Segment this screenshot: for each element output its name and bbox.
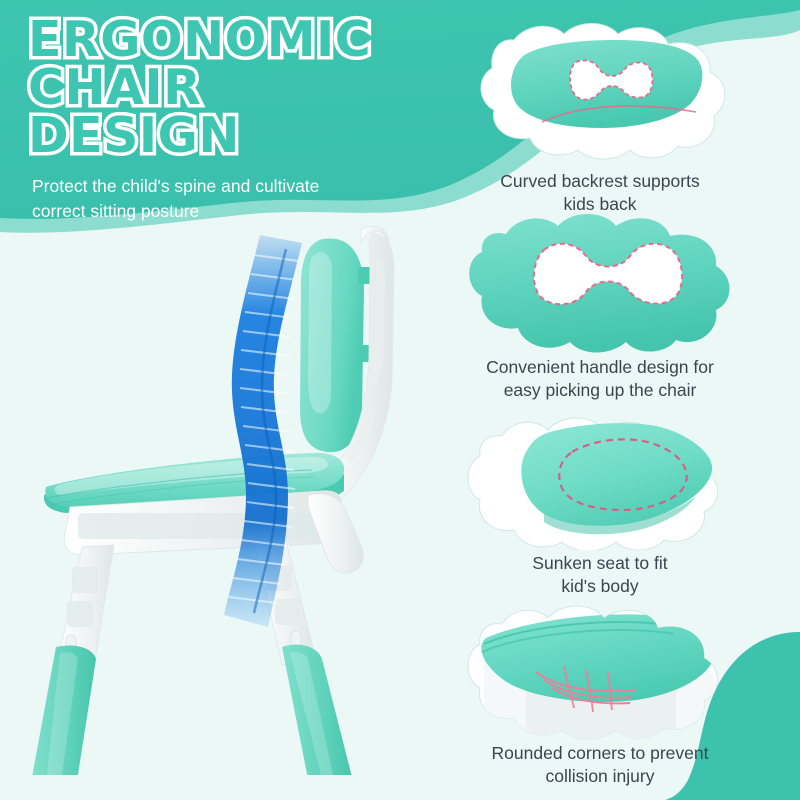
curved-backrest-icon [400,18,800,168]
feature-caption: Sunken seat to fit kid's body [450,552,750,599]
feature-item-handle: Convenient handle design for easy pickin… [400,206,800,403]
feature-item-curved-backrest: Curved backrest supports kids back [400,18,800,217]
feature-caption: Convenient handle design for easy pickin… [450,356,750,403]
sunken-seat-icon [400,408,800,550]
handle-cutout-icon [400,206,800,354]
infographic-page: Ergonomic Chair Design Protect the child… [0,0,800,800]
cloud-shape [469,214,729,353]
feature-item-sunken-seat: Sunken seat to fit kid's body [400,408,800,599]
feature-item-rounded-corners: Rounded corners to prevent collision inj… [400,600,800,789]
rounded-corner-icon [400,600,800,740]
page-subtitle: Protect the child's spine and cultivate … [32,174,392,224]
feature-list: Curved backrest supports kids back [400,18,800,800]
product-image [10,195,430,775]
feature-caption: Rounded corners to prevent collision inj… [450,742,750,789]
